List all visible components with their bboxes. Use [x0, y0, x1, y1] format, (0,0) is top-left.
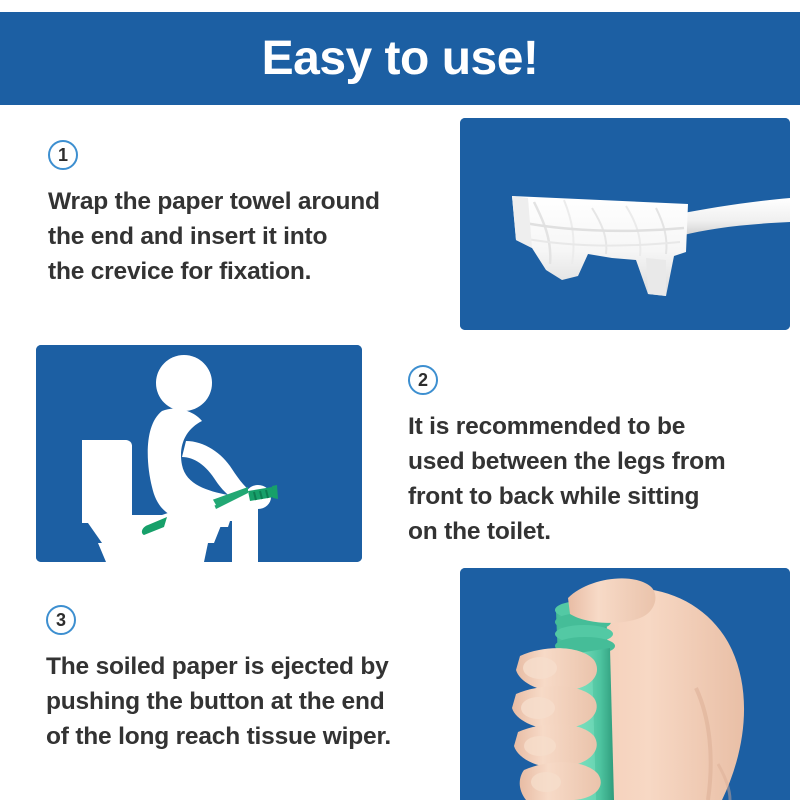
step-3-line-3: of the long reach tissue wiper. [46, 719, 456, 754]
step-2-line-2: used between the legs from [408, 444, 780, 479]
step-1-line-1: Wrap the paper towel around [48, 184, 448, 219]
product-instructions-infographic: Easy to use! 1 Wrap the paper towel arou… [0, 0, 800, 800]
step-3-description: The soiled paper is ejected by pushing t… [46, 649, 456, 754]
step-3-line-2: pushing the button at the end [46, 684, 456, 719]
step-1-description: Wrap the paper towel around the end and … [48, 184, 448, 289]
step-2-text-block: 2 It is recommended to be used between t… [408, 365, 780, 549]
step-2-image-panel [36, 345, 362, 562]
step-3-line-1: The soiled paper is ejected by [46, 649, 456, 684]
step-2-line-3: front to back while sitting [408, 479, 780, 514]
header-banner: Easy to use! [0, 12, 800, 105]
step-3-text-block: 3 The soiled paper is ejected by pushing… [46, 605, 456, 754]
step-2-description: It is recommended to be used between the… [408, 409, 780, 549]
step-2-line-1: It is recommended to be [408, 409, 780, 444]
page-title: Easy to use! [262, 35, 539, 83]
step-3-image-panel [460, 568, 790, 800]
step-1-text-block: 1 Wrap the paper towel around the end an… [48, 140, 448, 289]
hand-gripping-green-handle-photo [460, 568, 790, 800]
step-1-line-2: the end and insert it into [48, 219, 448, 254]
paper-towel-wrapped-on-wand-photo [460, 118, 790, 330]
step-2-number-badge: 2 [408, 365, 438, 395]
step-1-number-badge: 1 [48, 140, 78, 170]
step-2-line-4: on the toilet. [408, 514, 780, 549]
person-seated-on-toilet-pictogram [36, 345, 362, 562]
step-3-number-badge: 3 [46, 605, 76, 635]
step-1-line-3: the crevice for fixation. [48, 254, 448, 289]
step-1-image-panel [460, 118, 790, 330]
